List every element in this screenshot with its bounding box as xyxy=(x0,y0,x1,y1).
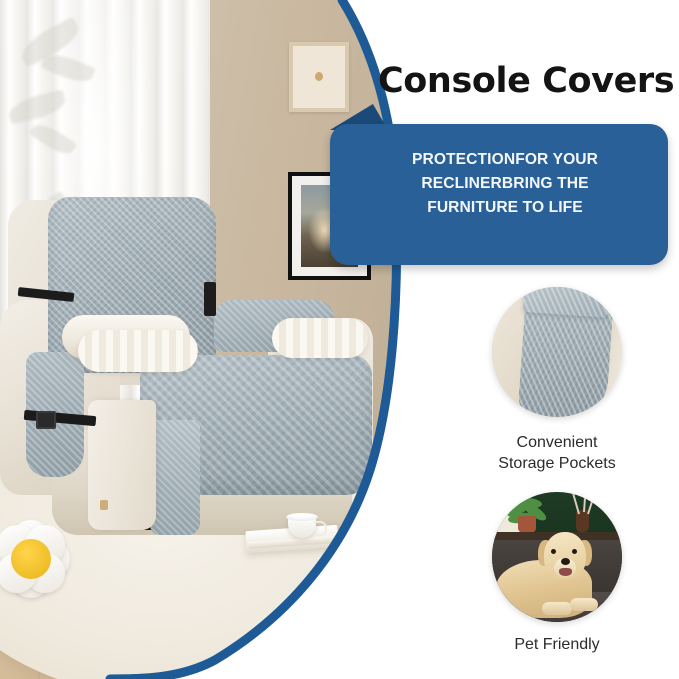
feature-label-line-2: Storage Pockets xyxy=(442,453,672,474)
promo-banner-text: PROTECTIONFOR YOUR RECLINERBRING THE FUR… xyxy=(380,148,630,220)
feature-image-pet-friendly xyxy=(492,492,622,622)
feature-label-line-1: Convenient xyxy=(442,432,672,453)
feature-label-storage-pockets: Convenient Storage Pockets xyxy=(442,432,672,475)
page-title: Console Covers xyxy=(378,64,668,99)
promo-banner: PROTECTIONFOR YOUR RECLINERBRING THE FUR… xyxy=(330,124,668,265)
feature-label-line-1: Pet Friendly xyxy=(442,634,672,655)
product-banner-stage: Console Covers PROTECTIONFOR YOUR RECLIN… xyxy=(0,0,679,679)
feature-label-pet-friendly: Pet Friendly xyxy=(442,634,672,655)
feature-image-storage-pockets xyxy=(492,287,622,417)
